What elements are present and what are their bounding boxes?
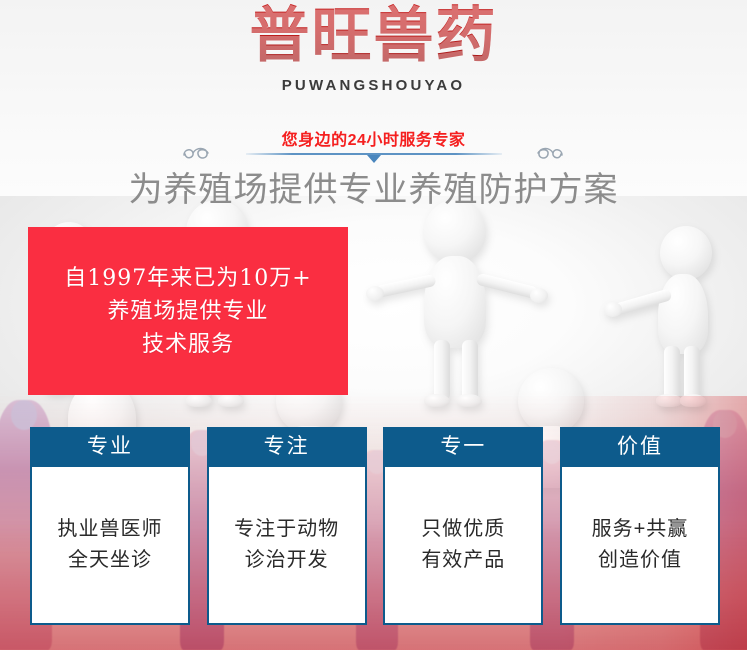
figure-3d-right-far (624, 226, 734, 406)
feature-card-line-2: 诊治开发 (234, 545, 339, 576)
red-statement-line-1: 自1997年来已为10万+ (64, 262, 311, 295)
feature-card-body: 专注于动物 诊治开发 (207, 467, 367, 625)
red-statement-line-2: 养殖场提供专业 (64, 295, 311, 328)
feature-card-list: 专业 执业兽医师 全天坐诊 专注 专注于动物 诊治开发 专一 只做优质 (30, 427, 720, 625)
brand-title: 普旺兽药 (0, 0, 747, 70)
brand-pinyin: PUWANGSHOUYAO (0, 77, 747, 94)
feature-card-line-2: 全天坐诊 (58, 545, 163, 576)
feature-card-zhuanye[interactable]: 专业 执业兽医师 全天坐诊 (30, 427, 190, 625)
slogan-ribbon: 您身边的24小时服务专家 (0, 126, 747, 166)
page-headline: 为养殖场提供专业养殖防护方案 (0, 167, 747, 213)
feature-card-line-1: 服务+共赢 (592, 514, 689, 545)
feature-card-title: 专业 (30, 427, 190, 467)
feature-card-body: 只做优质 有效产品 (383, 467, 543, 625)
feature-card-zhuanyi[interactable]: 专一 只做优质 有效产品 (383, 427, 543, 625)
slogan-text: 您身边的24小时服务专家 (0, 126, 747, 150)
feature-card-line-1: 只做优质 (421, 514, 505, 545)
feature-card-line-2: 有效产品 (421, 545, 505, 576)
feature-card-body: 服务+共赢 创造价值 (560, 467, 720, 625)
red-statement-text: 自1997年来已为10万+ 养殖场提供专业 技术服务 (64, 262, 311, 361)
feature-card-title: 价值 (560, 427, 720, 467)
feature-card-line-2: 创造价值 (592, 545, 689, 576)
feature-card-zhuanzhu[interactable]: 专注 专注于动物 诊治开发 (207, 427, 367, 625)
red-statement-box: 自1997年来已为10万+ 养殖场提供专业 技术服务 (28, 227, 348, 395)
feature-card-line-1: 专注于动物 (234, 514, 339, 545)
brand-header: 普旺兽药 PUWANGSHOUYAO (0, 0, 747, 94)
red-statement-line-3: 技术服务 (64, 328, 311, 361)
feature-card-title: 专一 (383, 427, 543, 467)
feature-card-jiazhi[interactable]: 价值 服务+共赢 创造价值 (560, 427, 720, 625)
feature-card-title: 专注 (207, 427, 367, 467)
feature-card-body: 执业兽医师 全天坐诊 (30, 467, 190, 625)
feature-card-line-1: 执业兽医师 (58, 514, 163, 545)
caret-down-icon (367, 155, 381, 163)
promotional-poster: 普旺兽药 PUWANGSHOUYAO 您身边的24小时服务专家 为 (0, 0, 747, 650)
flourish-swirl-right-icon (520, 142, 566, 164)
